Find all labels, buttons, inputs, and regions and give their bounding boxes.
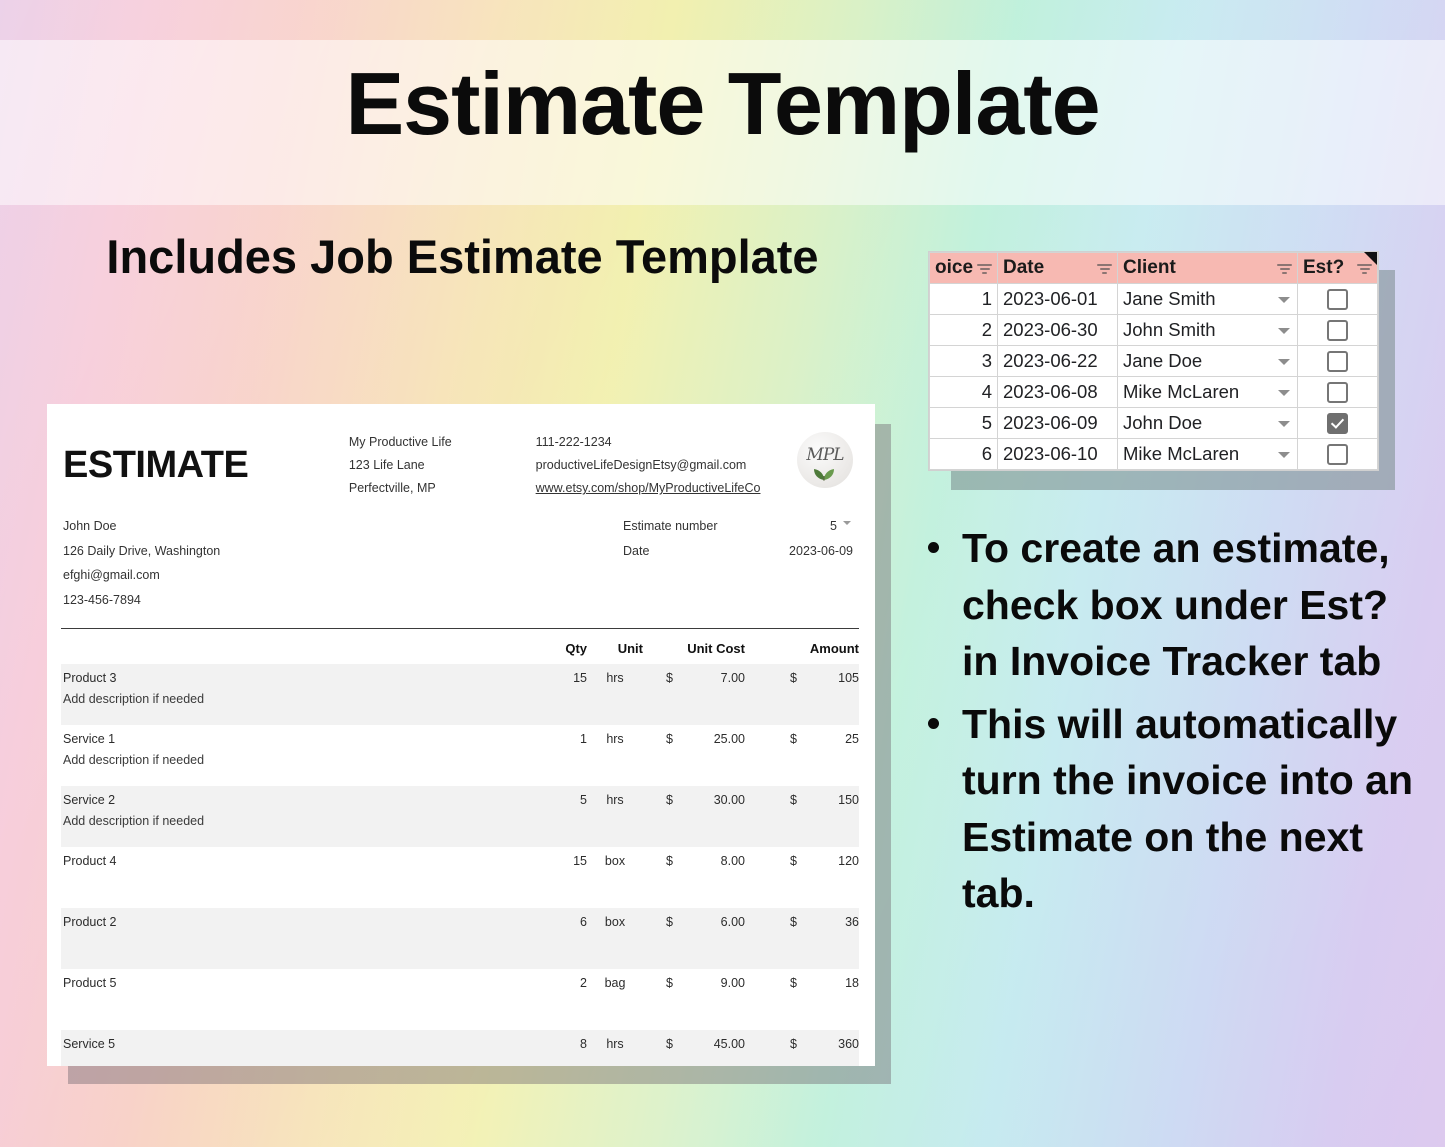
chevron-down-icon[interactable]: [1278, 359, 1290, 365]
item-name: Service 2: [63, 793, 115, 807]
item-qty: 2: [539, 969, 587, 1030]
cell-invoice[interactable]: 6: [930, 439, 998, 470]
currency-symbol: $: [643, 664, 673, 725]
item-qty: 8: [539, 1030, 587, 1066]
filter-icon[interactable]: [977, 262, 992, 274]
business-name: My Productive Life: [349, 431, 536, 454]
item-qty: 6: [539, 908, 587, 969]
item-amount: 36: [797, 908, 859, 969]
cell-client-text: Jane Doe: [1123, 350, 1202, 371]
cell-client[interactable]: John Doe: [1118, 408, 1298, 439]
column-header-client-label: Client: [1123, 257, 1176, 279]
business-address-block: My Productive Life 123 Life Lane Perfect…: [349, 428, 536, 500]
item-description-cell: Product 2: [61, 908, 539, 969]
spreadsheet-table: oice Date Client: [929, 252, 1378, 470]
cell-invoice[interactable]: 1: [930, 284, 998, 315]
header-description: [61, 629, 539, 664]
currency-symbol: $: [745, 847, 797, 908]
business-website-link[interactable]: www.etsy.com/shop/MyProductiveLifeCo: [536, 481, 761, 495]
column-header-date[interactable]: Date: [998, 253, 1118, 284]
table-row[interactable]: 2 2023-06-30 John Smith: [930, 315, 1378, 346]
currency-symbol: $: [643, 847, 673, 908]
item-amount: 18: [797, 969, 859, 1030]
column-header-invoice[interactable]: oice: [930, 253, 998, 284]
line-item-row: Product 2 6 box $ 6.00 $ 36: [61, 908, 859, 969]
company-logo: MPL: [797, 432, 853, 488]
item-amount: 150: [797, 786, 859, 847]
est-checkbox-checked[interactable]: [1327, 413, 1348, 434]
currency-symbol: $: [643, 786, 673, 847]
cell-client-text: Jane Smith: [1123, 288, 1216, 309]
currency-symbol: $: [643, 969, 673, 1030]
document-header: ESTIMATE My Productive Life 123 Life Lan…: [47, 404, 875, 500]
item-unit: hrs: [587, 664, 643, 725]
document-title: ESTIMATE: [63, 428, 349, 487]
cell-invoice[interactable]: 4: [930, 377, 998, 408]
page-root: Estimate Template Includes Job Estimate …: [0, 0, 1445, 1147]
item-unit: bag: [587, 969, 643, 1030]
item-amount: 25: [797, 725, 859, 786]
client-address: 126 Daily Drive, Washington: [63, 539, 623, 563]
business-street: 123 Life Lane: [349, 454, 536, 477]
currency-symbol: $: [745, 908, 797, 969]
estimate-number-text: 5: [830, 519, 837, 533]
table-row[interactable]: 5 2023-06-09 John Doe: [930, 408, 1378, 439]
chevron-down-icon[interactable]: [1278, 297, 1290, 303]
est-checkbox[interactable]: [1327, 320, 1348, 341]
cell-client[interactable]: Jane Smith: [1118, 284, 1298, 315]
currency-symbol: $: [745, 725, 797, 786]
currency-symbol: $: [643, 725, 673, 786]
client-name: John Doe: [63, 514, 623, 538]
cell-client-text: Mike McLaren: [1123, 381, 1239, 402]
item-description-cell: Service 5: [61, 1030, 539, 1066]
leaf-icon: [811, 465, 837, 481]
item-name: Service 1: [63, 732, 115, 746]
cell-date[interactable]: 2023-06-08: [998, 377, 1118, 408]
est-checkbox[interactable]: [1327, 289, 1348, 310]
cell-est[interactable]: [1298, 408, 1378, 439]
cell-date[interactable]: 2023-06-22: [998, 346, 1118, 377]
column-header-client[interactable]: Client: [1118, 253, 1298, 284]
currency-symbol: $: [745, 786, 797, 847]
page-subtitle: Includes Job Estimate Template: [95, 228, 830, 287]
item-amount: 360: [797, 1030, 859, 1066]
currency-symbol: $: [745, 664, 797, 725]
column-header-est-label: Est?: [1303, 257, 1344, 279]
estimate-document: ESTIMATE My Productive Life 123 Life Lan…: [47, 404, 875, 1066]
item-qty: 15: [539, 847, 587, 908]
page-title: Estimate Template: [0, 58, 1445, 150]
invoice-tracker-spreadsheet[interactable]: oice Date Client: [929, 252, 1377, 470]
estimate-meta-block: Estimate number 5 Date 2023-06-09: [623, 514, 853, 612]
item-unit-cost: 7.00: [673, 664, 745, 725]
sheet-corner-marker: [1364, 252, 1377, 265]
line-item-row: Product 4 15 box $ 8.00 $ 120: [61, 847, 859, 908]
cell-date[interactable]: 2023-06-10: [998, 439, 1118, 470]
item-qty: 5: [539, 786, 587, 847]
item-description-cell: Service 2 Add description if needed: [61, 786, 539, 847]
logo-monogram: MPL: [797, 445, 853, 465]
item-amount: 120: [797, 847, 859, 908]
cell-client-text: John Doe: [1123, 412, 1202, 433]
item-description-cell: Product 3 Add description if needed: [61, 664, 539, 725]
chevron-down-icon[interactable]: [1278, 452, 1290, 458]
item-unit-cost: 9.00: [673, 969, 745, 1030]
currency-symbol: $: [745, 1030, 797, 1066]
item-unit-cost: 6.00: [673, 908, 745, 969]
chevron-down-icon[interactable]: [843, 521, 851, 525]
column-header-invoice-label: oice: [935, 257, 973, 279]
client-email: efghi@gmail.com: [63, 563, 623, 587]
chevron-down-icon[interactable]: [1278, 421, 1290, 427]
estimate-number-row: Estimate number 5: [623, 514, 853, 538]
currency-symbol: $: [643, 1030, 673, 1066]
list-item: To create an estimate, check box under E…: [912, 520, 1432, 690]
bill-to-block: John Doe 126 Daily Drive, Washington efg…: [63, 514, 623, 612]
header-unit-cost: Unit Cost: [673, 629, 745, 664]
filter-icon[interactable]: [1097, 262, 1112, 274]
line-item-row: Service 1 Add description if needed 1 hr…: [61, 725, 859, 786]
chevron-down-icon[interactable]: [1278, 328, 1290, 334]
spreadsheet-body: 1 2023-06-01 Jane Smith 2 2023-06-30 Joh…: [930, 284, 1378, 470]
line-item-row: Service 2 Add description if needed 5 hr…: [61, 786, 859, 847]
business-city: Perfectville, MP: [349, 477, 536, 500]
item-unit: box: [587, 908, 643, 969]
item-name: Product 3: [63, 671, 117, 685]
estimate-number-label: Estimate number: [623, 514, 717, 538]
table-row[interactable]: 4 2023-06-08 Mike McLaren: [930, 377, 1378, 408]
item-name: Service 5: [63, 1037, 115, 1051]
header-amount: Amount: [797, 629, 859, 664]
est-checkbox[interactable]: [1327, 382, 1348, 403]
estimate-date-value: 2023-06-09: [789, 539, 853, 563]
spreadsheet-header-row: oice Date Client: [930, 253, 1378, 284]
list-item: This will automatically turn the invoice…: [912, 696, 1432, 922]
header-qty: Qty: [539, 629, 587, 664]
cell-est[interactable]: [1298, 346, 1378, 377]
item-unit-cost: 45.00: [673, 1030, 745, 1066]
filter-icon[interactable]: [1277, 262, 1292, 274]
cell-est[interactable]: [1298, 377, 1378, 408]
cell-client-text: Mike McLaren: [1123, 443, 1239, 464]
item-unit: box: [587, 847, 643, 908]
cell-est[interactable]: [1298, 439, 1378, 470]
line-items-body: Product 3 Add description if needed 15 h…: [61, 664, 859, 1066]
cell-est[interactable]: [1298, 315, 1378, 346]
cell-invoice[interactable]: 3: [930, 346, 998, 377]
item-unit: hrs: [587, 725, 643, 786]
line-items-table: Qty Unit Unit Cost Amount Product 3 Add …: [61, 629, 859, 1066]
currency-symbol: $: [745, 969, 797, 1030]
instructions-list: To create an estimate, check box under E…: [912, 520, 1432, 928]
cell-client[interactable]: Mike McLaren: [1118, 439, 1298, 470]
cell-client-text: John Smith: [1123, 319, 1216, 340]
item-description: Add description if needed: [63, 692, 539, 706]
cell-date[interactable]: 2023-06-30: [998, 315, 1118, 346]
item-description-cell: Service 1 Add description if needed: [61, 725, 539, 786]
line-item-row: Product 3 Add description if needed 15 h…: [61, 664, 859, 725]
cell-client[interactable]: Mike McLaren: [1118, 377, 1298, 408]
est-checkbox[interactable]: [1327, 444, 1348, 465]
item-name: Product 2: [63, 915, 117, 929]
cell-est[interactable]: [1298, 284, 1378, 315]
business-email: productiveLifeDesignEtsy@gmail.com: [536, 454, 791, 477]
cell-invoice[interactable]: 5: [930, 408, 998, 439]
business-phone: 111-222-1234: [536, 431, 791, 454]
currency-symbol: $: [643, 908, 673, 969]
item-qty: 1: [539, 725, 587, 786]
business-contact-block: 111-222-1234 productiveLifeDesignEtsy@gm…: [536, 428, 791, 500]
item-qty: 15: [539, 664, 587, 725]
item-unit: hrs: [587, 786, 643, 847]
item-description: Add description if needed: [63, 753, 539, 767]
item-description-cell: Product 5: [61, 969, 539, 1030]
item-name: Product 4: [63, 854, 117, 868]
item-description: Add description if needed: [63, 814, 539, 828]
cell-client[interactable]: Jane Doe: [1118, 346, 1298, 377]
item-unit-cost: 30.00: [673, 786, 745, 847]
document-meta: John Doe 126 Daily Drive, Washington efg…: [47, 500, 875, 612]
line-item-row: Product 5 2 bag $ 9.00 $ 18: [61, 969, 859, 1030]
item-amount: 105: [797, 664, 859, 725]
estimate-date-label: Date: [623, 539, 649, 563]
cell-invoice[interactable]: 2: [930, 315, 998, 346]
chevron-down-icon[interactable]: [1278, 390, 1290, 396]
item-unit-cost: 8.00: [673, 847, 745, 908]
header-unit: Unit: [587, 629, 643, 664]
cell-client[interactable]: John Smith: [1118, 315, 1298, 346]
item-unit-cost: 25.00: [673, 725, 745, 786]
table-row[interactable]: 1 2023-06-01 Jane Smith: [930, 284, 1378, 315]
estimate-number-value[interactable]: 5: [830, 514, 853, 538]
table-row[interactable]: 3 2023-06-22 Jane Doe: [930, 346, 1378, 377]
cell-date[interactable]: 2023-06-09: [998, 408, 1118, 439]
table-row[interactable]: 6 2023-06-10 Mike McLaren: [930, 439, 1378, 470]
line-items-header-row: Qty Unit Unit Cost Amount: [61, 629, 859, 664]
item-description-cell: Product 4: [61, 847, 539, 908]
cell-date[interactable]: 2023-06-01: [998, 284, 1118, 315]
client-phone: 123-456-7894: [63, 588, 623, 612]
item-unit: hrs: [587, 1030, 643, 1066]
est-checkbox[interactable]: [1327, 351, 1348, 372]
estimate-date-row: Date 2023-06-09: [623, 539, 853, 563]
column-header-date-label: Date: [1003, 257, 1044, 279]
line-item-row: Service 5 8 hrs $ 45.00 $ 360: [61, 1030, 859, 1066]
item-name: Product 5: [63, 976, 117, 990]
